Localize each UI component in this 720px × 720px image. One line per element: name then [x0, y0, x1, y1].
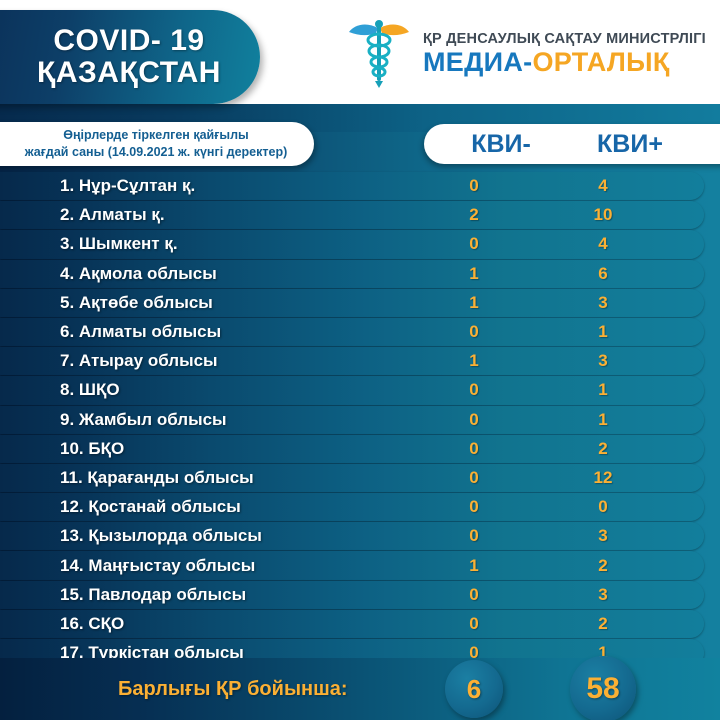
region-name: 13. Қызылорда облысы: [60, 526, 262, 546]
table-row: 9. Жамбыл облысы01: [0, 406, 704, 434]
caduceus-icon: [345, 18, 413, 90]
region-kvi-negative: 2: [424, 205, 524, 225]
region-kvi-positive: 3: [548, 351, 658, 371]
table-row: 3. Шымкент қ.04: [0, 230, 704, 258]
region-kvi-positive: 3: [548, 293, 658, 313]
region-name: 2. Алматы қ.: [60, 205, 165, 225]
infographic-page: COVID- 19 ҚАЗАҚСТАН ҚР ДЕНСАУЛЫҚ САҚТАУ …: [0, 0, 720, 720]
region-kvi-positive: 2: [548, 556, 658, 576]
region-kvi-positive: 1: [548, 380, 658, 400]
table-row: 2. Алматы қ.210: [0, 201, 704, 229]
table-row: 6. Алматы облысы01: [0, 318, 704, 346]
subtitle-line-1: Өңірлерде тіркелген қайғылы: [63, 127, 248, 144]
region-kvi-negative: 0: [424, 234, 524, 254]
table-row: 4. Ақмола облысы16: [0, 260, 704, 288]
region-kvi-positive: 0: [548, 497, 658, 517]
region-table: 1. Нұр-Сұлтан қ.042. Алматы қ.2103. Шымк…: [0, 172, 720, 668]
region-name: 14. Маңғыстау облысы: [60, 556, 255, 576]
column-header-badge: КВИ- КВИ+: [424, 124, 720, 164]
logo-text: ҚР ДЕНСАУЛЫҚ САҚТАУ МИНИСТРЛІГІ МЕДИА-ОР…: [423, 32, 706, 77]
region-name: 12. Қостанай облысы: [60, 497, 241, 517]
region-kvi-positive: 2: [548, 439, 658, 459]
table-row: 5. Ақтөбе облысы13: [0, 289, 704, 317]
region-name: 15. Павлодар облысы: [60, 585, 246, 605]
brand-ortalyq: ОРТАЛЫҚ: [532, 47, 669, 77]
region-kvi-positive: 2: [548, 614, 658, 634]
subtitle-badge: Өңірлерде тіркелген қайғылы жағдай саны …: [0, 122, 314, 166]
table-row: 1. Нұр-Сұлтан қ.04: [0, 172, 704, 200]
region-kvi-positive: 3: [548, 585, 658, 605]
totals-label: Барлығы ҚР бойынша:: [118, 678, 348, 701]
region-kvi-positive: 3: [548, 526, 658, 546]
brand-media: МЕДИА-: [423, 47, 532, 77]
title-line-1: COVID- 19: [53, 25, 204, 57]
region-kvi-positive: 10: [548, 205, 658, 225]
region-kvi-negative: 1: [424, 556, 524, 576]
table-row: 7. Атырау облысы13: [0, 347, 704, 375]
subtitle-line-2: жағдай саны (14.09.2021 ж. күнгі деректе…: [25, 144, 288, 161]
region-name: 8. ШҚО: [60, 380, 120, 400]
table-row: 13. Қызылорда облысы03: [0, 522, 704, 550]
region-name: 9. Жамбыл облысы: [60, 410, 227, 430]
region-kvi-positive: 12: [548, 468, 658, 488]
region-kvi-negative: 0: [424, 322, 524, 342]
region-kvi-negative: 0: [424, 526, 524, 546]
region-name: 6. Алматы облысы: [60, 322, 221, 342]
brand-name: МЕДИА-ОРТАЛЫҚ: [423, 49, 706, 76]
region-name: 4. Ақмола облысы: [60, 264, 217, 284]
region-kvi-positive: 1: [548, 410, 658, 430]
ministry-name: ҚР ДЕНСАУЛЫҚ САҚТАУ МИНИСТРЛІГІ: [423, 32, 706, 47]
region-kvi-negative: 0: [424, 176, 524, 196]
region-name: 11. Қарағанды облысы: [60, 468, 254, 488]
region-name: 1. Нұр-Сұлтан қ.: [60, 176, 195, 196]
region-name: 3. Шымкент қ.: [60, 234, 178, 254]
table-row: 10. БҚО02: [0, 435, 704, 463]
column-header-kvi-negative: КВИ-: [446, 130, 556, 159]
region-kvi-positive: 6: [548, 264, 658, 284]
region-kvi-negative: 0: [424, 497, 524, 517]
region-kvi-negative: 0: [424, 585, 524, 605]
region-kvi-positive: 1: [548, 322, 658, 342]
total-kvi-positive: 58: [570, 656, 636, 720]
region-kvi-negative: 0: [424, 380, 524, 400]
table-row: 8. ШҚО01: [0, 376, 704, 404]
region-kvi-negative: 0: [424, 439, 524, 459]
region-kvi-negative: 0: [424, 614, 524, 634]
covid-title-badge: COVID- 19 ҚАЗАҚСТАН: [0, 10, 260, 104]
region-kvi-negative: 0: [424, 468, 524, 488]
region-kvi-negative: 0: [424, 410, 524, 430]
total-kvi-negative: 6: [445, 660, 503, 718]
table-row: 11. Қарағанды облысы012: [0, 464, 704, 492]
table-row: 16. СҚО02: [0, 610, 704, 638]
region-kvi-negative: 1: [424, 351, 524, 371]
region-kvi-positive: 4: [548, 176, 658, 196]
ministry-logo: ҚР ДЕНСАУЛЫҚ САҚТАУ МИНИСТРЛІГІ МЕДИА-ОР…: [345, 18, 706, 90]
region-name: 16. СҚО: [60, 614, 124, 634]
totals-bar: Барлығы ҚР бойынша: 6 58: [0, 658, 720, 720]
region-name: 5. Ақтөбе облысы: [60, 293, 213, 313]
title-line-2: ҚАЗАҚСТАН: [37, 56, 221, 89]
region-name: 7. Атырау облысы: [60, 351, 218, 371]
region-kvi-negative: 1: [424, 293, 524, 313]
region-kvi-negative: 1: [424, 264, 524, 284]
table-row: 15. Павлодар облысы03: [0, 581, 704, 609]
table-row: 14. Маңғыстау облысы12: [0, 551, 704, 579]
region-name: 10. БҚО: [60, 439, 124, 459]
table-row: 12. Қостанай облысы00: [0, 493, 704, 521]
column-header-kvi-positive: КВИ+: [570, 130, 690, 159]
region-kvi-positive: 4: [548, 234, 658, 254]
